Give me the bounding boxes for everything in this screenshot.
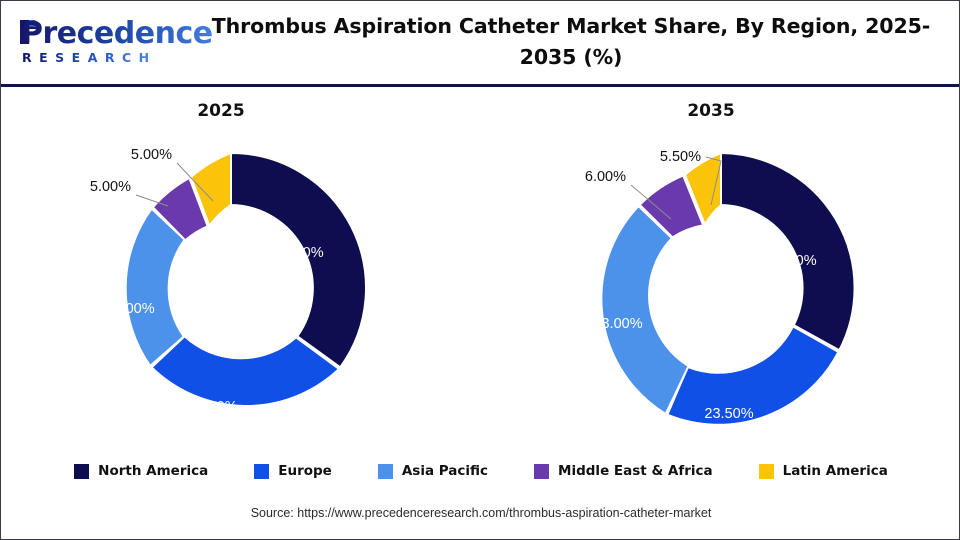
legend-item-middle-east-africa[interactable]: Middle East & Africa [534, 463, 713, 479]
donut-svg-2025: 35.00% 25.00% 30.00% 5.00% 5.00% [76, 133, 386, 443]
header: Precedence RESEARCH Thrombus Aspiration … [1, 1, 959, 87]
value-label-middle-east-africa: 6.00% [585, 169, 626, 185]
value-label-europe: 25.00% [188, 399, 237, 415]
slices-2025 [126, 153, 366, 406]
value-label-latin-america: 5.00% [131, 147, 172, 163]
legend-swatch-latin-america [759, 464, 774, 479]
source-caption: Source: https://www.precedenceresearch.c… [1, 506, 960, 520]
chart-title-2025: 2025 [0, 101, 461, 121]
slices-2035 [601, 153, 854, 425]
page-title: Thrombus Aspiration Catheter Market Shar… [191, 11, 951, 73]
legend-swatch-middle-east-africa [534, 464, 549, 479]
legend-item-europe[interactable]: Europe [254, 463, 332, 479]
legend-label-asia-pacific: Asia Pacific [402, 463, 488, 479]
donut-wrap-2035: 33.00% 23.50% 33.00% 6.00% 5.50% [566, 133, 876, 443]
slice-asia-pacific[interactable] [126, 209, 185, 366]
legend-label-middle-east-africa: Middle East & Africa [558, 463, 713, 479]
logo-wordmark: Precedence [21, 16, 213, 51]
slice-asia-pacific[interactable] [601, 206, 688, 414]
chart-title-2035: 2035 [471, 101, 951, 121]
legend-label-latin-america: Latin America [783, 463, 888, 479]
value-label-north-america: 35.00% [274, 245, 323, 261]
logo-subtitle: RESEARCH [22, 50, 157, 65]
slice-north-america[interactable] [721, 153, 855, 350]
legend-label-europe: Europe [278, 463, 332, 479]
legend-item-asia-pacific[interactable]: Asia Pacific [378, 463, 488, 479]
legend-label-north-america: North America [98, 463, 208, 479]
legend-swatch-europe [254, 464, 269, 479]
legend-swatch-asia-pacific [378, 464, 393, 479]
donut-svg-2035: 33.00% 23.50% 33.00% 6.00% 5.50% [566, 133, 876, 443]
donut-chart-2035: 2035 33.00 [481, 87, 960, 447]
value-label-latin-america: 5.50% [660, 149, 701, 165]
donut-chart-2025: 2025 35.00 [1, 87, 481, 447]
chart-infographic-page: Precedence RESEARCH Thrombus Aspiration … [0, 0, 960, 540]
legend-item-north-america[interactable]: North America [74, 463, 208, 479]
value-label-middle-east-africa: 5.00% [90, 179, 131, 195]
legend: North America Europe Asia Pacific Middle… [1, 453, 960, 489]
charts-area: 2025 35.00 [1, 87, 960, 447]
brand-logo: Precedence RESEARCH [15, 15, 175, 67]
value-label-asia-pacific: 33.00% [593, 316, 642, 332]
donut-wrap-2025: 35.00% 25.00% 30.00% 5.00% 5.00% [76, 133, 386, 443]
legend-item-latin-america[interactable]: Latin America [759, 463, 888, 479]
value-label-asia-pacific: 30.00% [105, 301, 154, 317]
legend-swatch-north-america [74, 464, 89, 479]
value-label-north-america: 33.00% [767, 253, 816, 269]
value-label-europe: 23.50% [704, 406, 753, 422]
